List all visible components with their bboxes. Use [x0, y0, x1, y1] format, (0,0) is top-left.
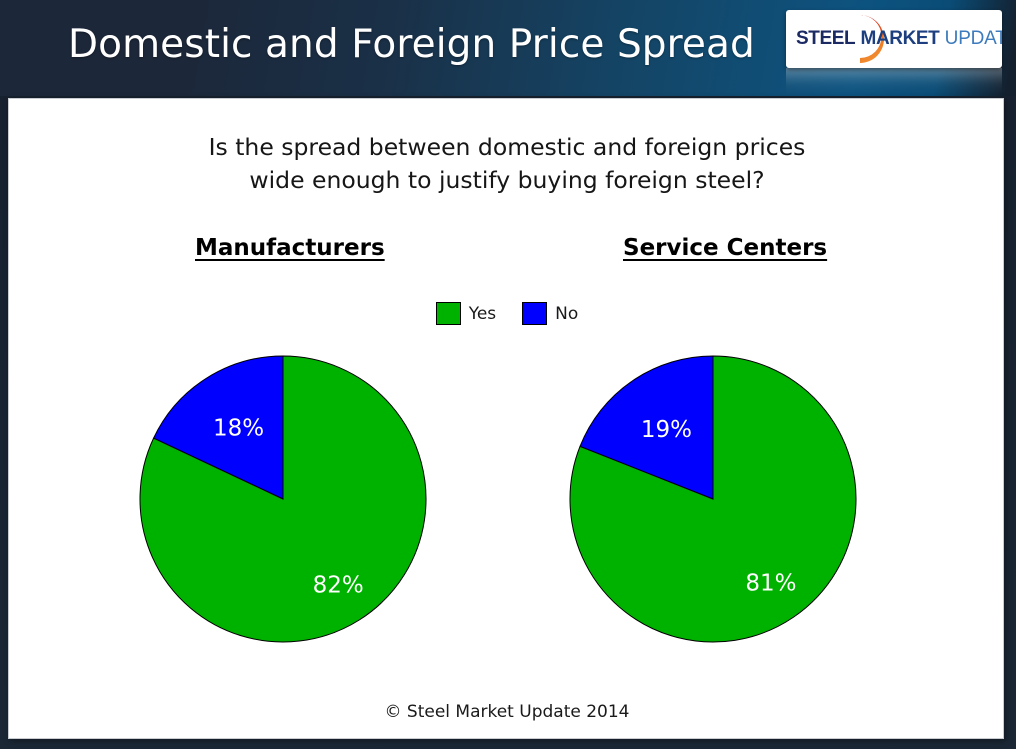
pie-chart-service-centers-svg: 81% 19%: [568, 354, 858, 644]
chart-heading-manufacturers: Manufacturers: [195, 235, 385, 261]
legend-label-yes: Yes: [469, 304, 496, 324]
legend-item-yes: Yes: [436, 302, 496, 325]
question-line-2: wide enough to justify buying foreign st…: [9, 164, 1005, 197]
logo-word-market: MARKET: [861, 28, 940, 49]
legend-swatch-no: [522, 302, 547, 325]
pie-service-centers-slices: [570, 356, 856, 642]
steel-market-update-logo[interactable]: STEEL MARKET UPDATE: [786, 10, 1002, 68]
pie-manufacturers-slices: [140, 356, 426, 642]
pie-manufacturers-label-no: 18%: [213, 416, 264, 442]
survey-question: Is the spread between domestic and forei…: [9, 131, 1005, 197]
pie-chart-manufacturers: 82% 18%: [138, 354, 428, 644]
legend-swatch-yes: [436, 302, 461, 325]
logo-arc-reflection-icon: [838, 68, 890, 98]
content-panel: Is the spread between domestic and forei…: [8, 98, 1004, 739]
pie-service-centers-label-yes: 81%: [745, 571, 796, 597]
pie-chart-manufacturers-svg: 82% 18%: [138, 354, 428, 644]
logo-word-steel: STEEL: [796, 28, 855, 49]
legend-item-no: No: [522, 302, 578, 325]
question-line-1: Is the spread between domestic and forei…: [9, 131, 1005, 164]
pie-chart-service-centers: 81% 19%: [568, 354, 858, 644]
legend-label-no: No: [555, 304, 578, 324]
logo-reflection: [786, 68, 1002, 98]
slide-root: Domestic and Foreign Price Spread STEEL …: [0, 0, 1016, 749]
chart-heading-service-centers: Service Centers: [623, 235, 827, 261]
chart-legend: Yes No: [9, 302, 1005, 325]
copyright-notice: © Steel Market Update 2014: [9, 702, 1005, 722]
page-title: Domestic and Foreign Price Spread: [68, 22, 755, 67]
pie-service-centers-label-no: 19%: [641, 417, 692, 443]
logo-word-update: UPDATE: [945, 28, 1002, 49]
logo-wordmark: STEEL MARKET UPDATE: [796, 28, 1002, 50]
pie-manufacturers-label-yes: 82%: [313, 572, 364, 598]
